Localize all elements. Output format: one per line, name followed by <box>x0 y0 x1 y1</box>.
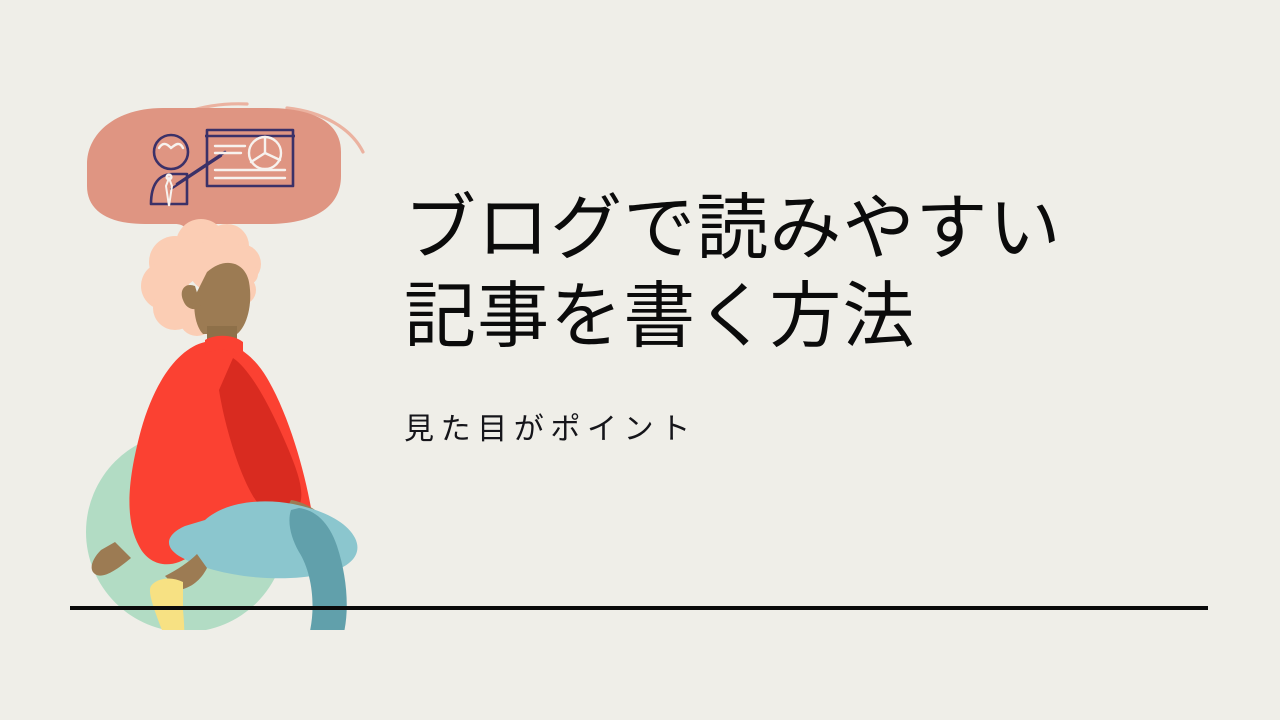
title-text-block: ブログで読みやすい 記事を書く方法 見た目がポイント <box>404 186 1204 448</box>
page-title-line-1: ブログで読みやすい <box>404 186 1204 274</box>
bottom-divider-rule <box>70 606 1208 610</box>
hero-illustration <box>55 90 395 630</box>
slide-canvas: ブログで読みやすい 記事を書く方法 見た目がポイント <box>0 0 1280 720</box>
page-subtitle: 見た目がポイント <box>404 404 1204 448</box>
page-title-line-2: 記事を書く方法 <box>404 274 1204 362</box>
